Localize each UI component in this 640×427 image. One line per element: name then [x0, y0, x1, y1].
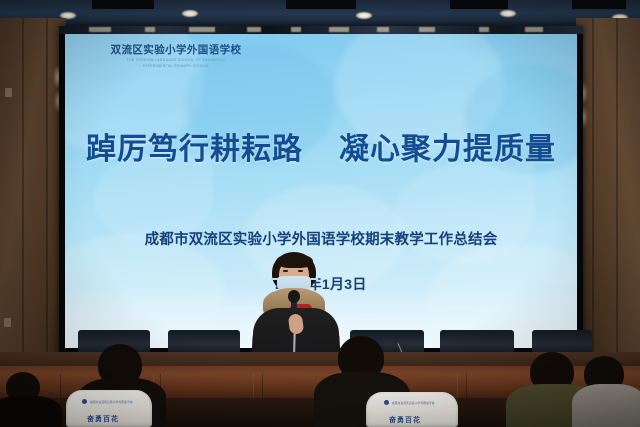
ceiling-vent [572, 0, 626, 9]
chair-cover: 成都市双流区实验小学外国语学校 奋勇百花 [366, 392, 458, 427]
audience-shoulders [0, 396, 62, 427]
ceiling-light-icon [356, 12, 372, 19]
school-logo-english-line2: EXPERIMENTAL PRIMARY SCHOOL [86, 64, 266, 68]
school-logo: 双流区实验小学外国语学校 THE FOREIGN LANGUAGE SCHOOL… [86, 44, 266, 69]
wall-outlet [5, 88, 12, 97]
school-logo-english-line1: THE FOREIGN LANGUAGE SCHOOL OF SHUANGLIU [86, 58, 266, 62]
ceiling-light-icon [500, 10, 516, 17]
chair-cover-small-text: 成都市双流区实验小学外国语学校 [90, 400, 133, 404]
speaker-eye [298, 270, 303, 272]
microphone-icon [288, 290, 300, 303]
audience-member [576, 356, 640, 427]
headline-left: 踔厉笃行耕耘路 [86, 132, 303, 168]
chair-cover-logo-icon [384, 400, 389, 405]
school-logo-chinese: 双流区实验小学外国语学校 [86, 44, 266, 56]
screen-top-light-strip [59, 26, 583, 34]
ceiling-light-icon [182, 10, 198, 17]
mask-strap [311, 278, 318, 280]
headline-right: 凝心聚力提质量 [339, 132, 556, 168]
chair-cover-large-text: 奋勇百花 [389, 415, 421, 425]
slide-headline: 踔厉笃行耕耘路 凝心聚力提质量 [65, 132, 577, 168]
ceiling-vent [286, 0, 356, 9]
chair-cover: 成都市双流区实验小学外国语学校 奋勇百花 [66, 390, 152, 427]
speaker-fringe [276, 254, 313, 268]
slide-subtitle: 成都市双流区实验小学外国语学校期末教学工作总结会 [65, 228, 577, 249]
conference-photo: 双流区实验小学外国语学校 THE FOREIGN LANGUAGE SCHOOL… [0, 0, 640, 427]
ceiling-vent [92, 0, 154, 9]
audience-shoulders [572, 384, 640, 427]
chair-cover-small-text: 成都市双流区实验小学外国语学校 [392, 401, 435, 405]
ceiling-vent [450, 0, 508, 9]
chair-cover-large-text: 奋勇百花 [87, 414, 119, 424]
wall-outlet [4, 318, 11, 327]
speaker-eye [283, 270, 288, 272]
chair-cover-logo-icon [82, 399, 87, 404]
